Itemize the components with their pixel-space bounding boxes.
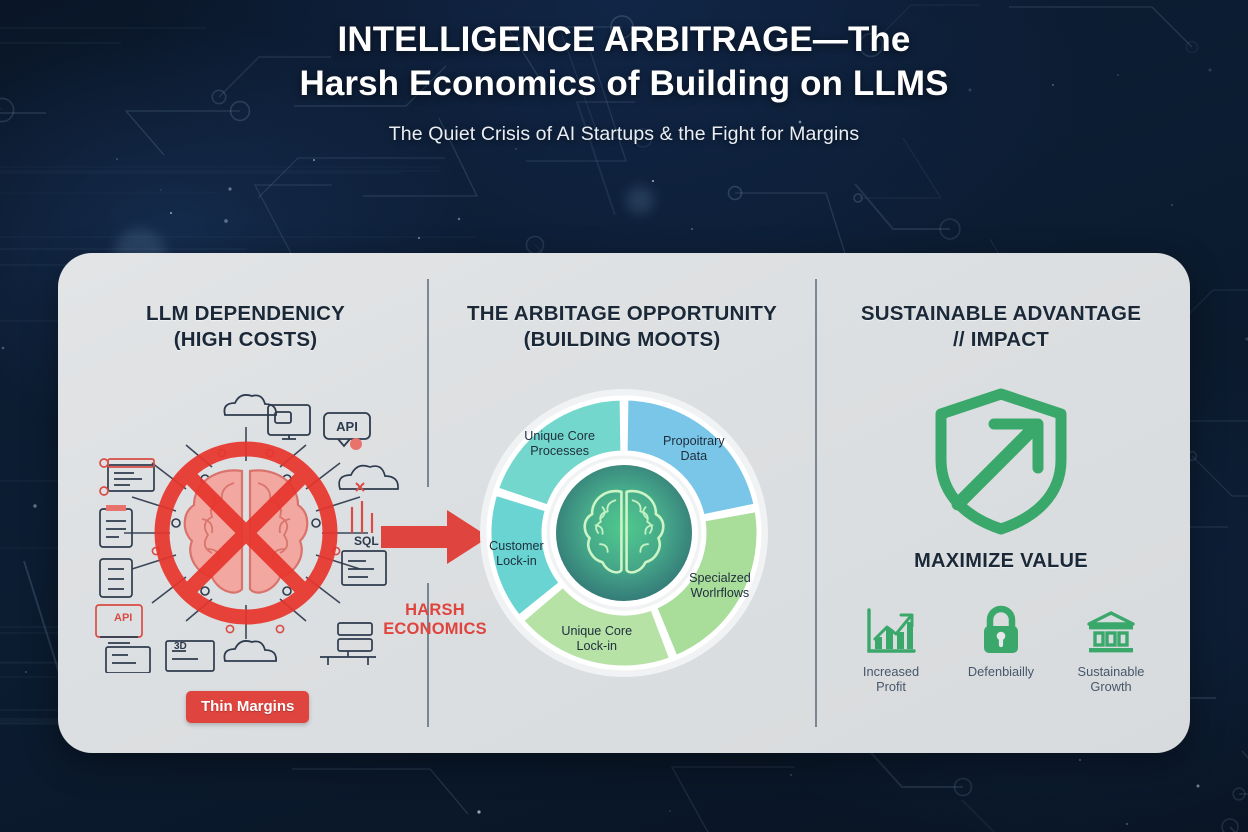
page-title: INTELLIGENCE ARBITRAGE—The Harsh Economi…: [0, 0, 1248, 106]
status-badge-thin-margins: Thin Margins: [186, 691, 309, 723]
kpi-label-line1: Increased: [839, 664, 943, 679]
column-divider-right: [815, 279, 817, 727]
moat-donut-chart: PropoitraryDataSpecialzedWorlrflowsUniqu…: [479, 383, 769, 683]
column-divider-left-upper: [427, 279, 429, 487]
svg-text:API: API: [336, 419, 358, 434]
heading-line1: LLM DEPENDENICY: [146, 302, 345, 325]
kpi-label: Increased Profit: [839, 664, 943, 694]
column-heading-sustainable-advantage: SUSTAINABLE ADVANTAGE // IMPACT: [821, 301, 1181, 353]
kpi-label-line2: Profit: [839, 679, 943, 694]
column-heading-arbitage-opportunity: THE ARBITAGE OPPORTUNITY (BUILDING MOOTS…: [433, 301, 811, 353]
shield-growth-arrow-icon: [928, 386, 1074, 541]
kpi-label: Sustainable Growth: [1059, 664, 1163, 694]
heading-line2: // IMPACT: [821, 327, 1181, 353]
bank-icon: [1059, 605, 1163, 655]
svg-text:API: API: [114, 612, 132, 624]
heading-line2: (HIGH COSTS): [68, 327, 423, 353]
infographic-canvas: INTELLIGENCE ARBITRAGE—The Harsh Economi…: [0, 0, 1248, 832]
heading-line2: (BUILDING MOOTS): [433, 327, 811, 353]
lock-icon: [949, 605, 1053, 655]
kpi-increased-profit: Increased Profit: [839, 605, 943, 694]
svg-text:3D: 3D: [174, 641, 187, 652]
column-llm-dependency: LLM DEPENDENICY (HIGH COSTS): [68, 253, 423, 753]
page-title-line1: INTELLIGENCE ARBITRAGE—The: [0, 0, 1248, 62]
bar-chart-up-icon: [839, 605, 943, 655]
column-arbitage-opportunity: THE ARBITAGE OPPORTUNITY (BUILDING MOOTS…: [433, 253, 811, 753]
crossed-out-brain-network-icon: API: [90, 393, 402, 673]
kpi-label: Defenbiailly: [949, 664, 1053, 679]
donut-chart-svg: [479, 383, 769, 683]
shield-caption: MAXIMIZE VALUE: [821, 550, 1181, 573]
main-panel: LLM DEPENDENICY (HIGH COSTS): [58, 253, 1190, 753]
kpi-label-line1: Sustainable: [1059, 664, 1163, 679]
kpi-row: Increased Profit Defenbiail: [839, 605, 1163, 694]
header: INTELLIGENCE ARBITRAGE—The Harsh Economi…: [0, 0, 1248, 146]
column-sustainable-advantage: SUSTAINABLE ADVANTAGE // IMPACT MAXIMIZE…: [821, 253, 1181, 753]
heading-line1: THE ARBITAGE OPPORTUNITY: [467, 302, 777, 325]
column-heading-llm-dependency: LLM DEPENDENICY (HIGH COSTS): [68, 301, 423, 353]
kpi-label-line1: Defenbiailly: [949, 664, 1053, 679]
page-title-line2: Harsh Economics of Building on LLMS: [0, 62, 1248, 106]
kpi-label-line2: Growth: [1059, 679, 1163, 694]
kpi-sustainable-growth: Sustainable Growth: [1059, 605, 1163, 694]
kpi-defensibility: Defenbiailly: [949, 605, 1053, 694]
page-subtitle: The Quiet Crisis of AI Startups & the Fi…: [0, 106, 1248, 146]
heading-line1: SUSTAINABLE ADVANTAGE: [861, 302, 1141, 325]
